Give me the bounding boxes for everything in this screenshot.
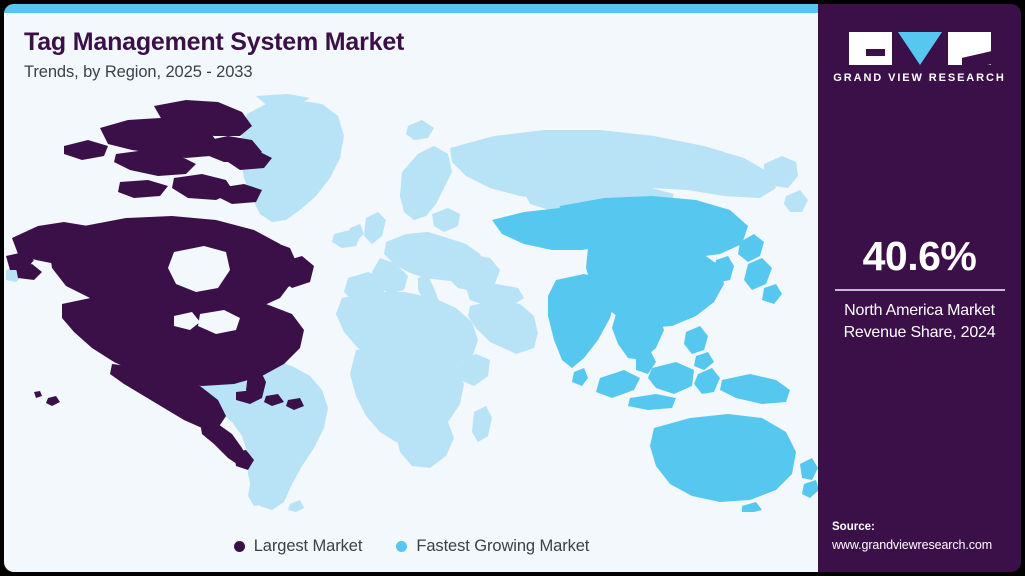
top-accent-bar	[4, 4, 819, 13]
header: Tag Management System Market Trends, by …	[24, 28, 724, 83]
page-title: Tag Management System Market	[24, 28, 724, 57]
legend: Largest Market Fastest Growing Market	[4, 537, 819, 556]
stat-value: 40.6%	[818, 236, 1021, 277]
world-map-svg	[4, 92, 819, 512]
stat-caption-line2: Revenue Share, 2024	[818, 322, 1021, 344]
brand-logo[interactable]: GRAND VIEW RESEARCH	[818, 32, 1021, 84]
source-label: Source:	[832, 519, 1013, 536]
stat-caption-line1: North America Market	[818, 300, 1021, 322]
dot-icon	[396, 541, 407, 552]
dot-icon	[234, 541, 245, 552]
brand-panel: GRAND VIEW RESEARCH 40.6% North America …	[818, 4, 1021, 572]
stat-block: 40.6% North America Market Revenue Share…	[818, 236, 1021, 343]
logo-r-icon	[948, 32, 991, 65]
source-url[interactable]: www.grandviewresearch.com	[832, 536, 1013, 554]
legend-item-fastest-growing-market[interactable]: Fastest Growing Market	[396, 537, 589, 556]
logo-marks	[849, 32, 991, 65]
legend-item-largest-market[interactable]: Largest Market	[234, 537, 363, 556]
legend-item-label: Largest Market	[254, 537, 363, 556]
stat-divider	[835, 289, 1005, 291]
legend-item-label: Fastest Growing Market	[416, 537, 589, 556]
brand-name: GRAND VIEW RESEARCH	[833, 72, 1005, 84]
infographic-root: Tag Management System Market Trends, by …	[0, 0, 1025, 576]
logo-v-icon	[898, 32, 942, 65]
page-subtitle: Trends, by Region, 2025 - 2033	[24, 63, 724, 83]
source-block: Source: www.grandviewresearch.com	[832, 519, 1013, 554]
map-panel: Tag Management System Market Trends, by …	[4, 4, 819, 572]
world-map	[4, 92, 819, 512]
logo-g-icon	[849, 32, 892, 65]
